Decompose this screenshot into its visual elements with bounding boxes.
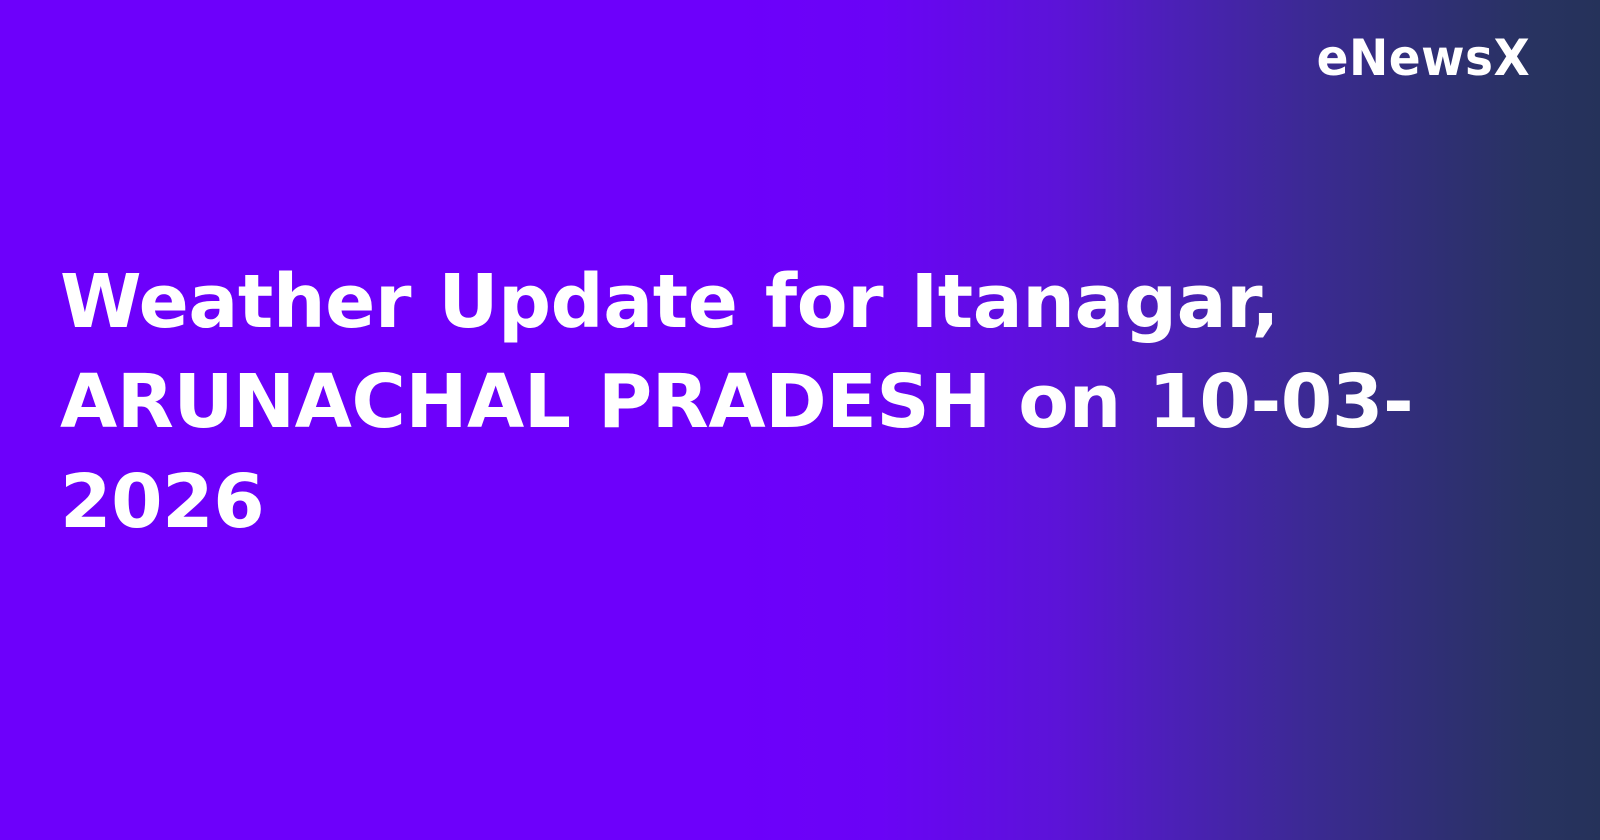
news-banner: eNewsX Weather Update for Itanagar, ARUN… [0, 0, 1600, 840]
brand-logo[interactable]: eNewsX [1316, 33, 1530, 83]
headline-block: Weather Update for Itanagar, ARUNACHAL P… [60, 252, 1480, 552]
page-title: Weather Update for Itanagar, ARUNACHAL P… [60, 252, 1480, 552]
